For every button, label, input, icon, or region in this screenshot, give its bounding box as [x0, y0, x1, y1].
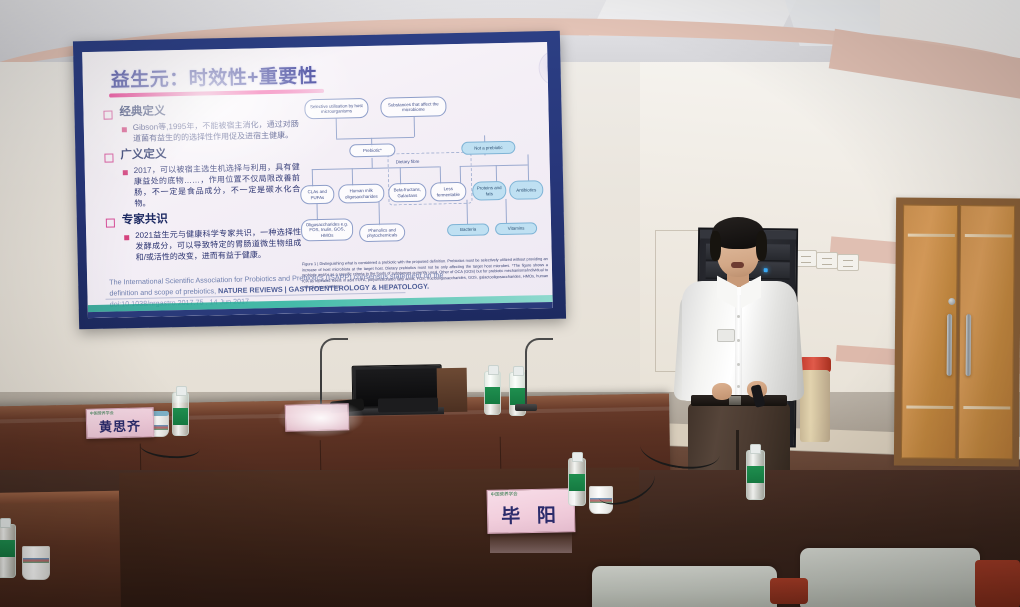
projection-screen-frame: 益生元：时效性+重要性 经典定义 Gibson等,1995年，不能被宿主消化，通… [73, 31, 566, 330]
diagram-node: Not a prebiotic [461, 141, 515, 155]
bottle-label [0, 540, 15, 557]
bullet-heading: 广义定义 [120, 149, 166, 164]
paper-cup[interactable] [22, 546, 50, 580]
diagram-node: Beta-fructans, Galactans [388, 183, 426, 203]
mic-base [515, 404, 537, 411]
mouth [731, 262, 744, 268]
chair-back-behind-table [437, 368, 468, 413]
placard-name: 黄思齐 [99, 415, 141, 435]
bullet-heading: 经典定义 [119, 105, 165, 120]
connector [414, 117, 415, 137]
bullet-heading-row: 经典定义 [103, 102, 298, 120]
connector [372, 158, 373, 168]
small-square-bullet-icon [124, 235, 129, 240]
connector [378, 202, 380, 226]
bullet-body: 2021益生元与健康科学专家共识，一种选择性发酵成分，可以导致特定的胃肠道微生物… [135, 228, 302, 264]
diagram-node: Oligosaccharides e.g. FOS, Inulin, GOS, … [301, 218, 353, 241]
diagram-node: Substances that affect the microbiome [380, 96, 446, 117]
institution-watermark-logo [538, 49, 553, 86]
diagram-node: Antibiotics [509, 180, 543, 200]
door-left[interactable] [901, 205, 958, 459]
slide-title: 益生元：时效性+重要性 [110, 61, 317, 93]
bullet-body-row: Gibson等,1995年，不能被宿主消化，通过对肠道菌有益生的的选择性作用促及… [122, 119, 299, 144]
door-molding [965, 234, 1012, 237]
bottle-cap [513, 366, 524, 376]
belt-buckle [729, 396, 741, 405]
shirt-button [737, 363, 740, 366]
audience-chair[interactable] [800, 548, 980, 607]
placard-org: 中国营养学会 [491, 492, 518, 497]
diagram-node: Prebiotic* [349, 143, 395, 157]
audience-table-left [0, 491, 121, 607]
bottle-cap [0, 518, 11, 528]
diagram-node: Human milk oligosaccharides [338, 184, 384, 204]
chair-armrest [770, 578, 808, 604]
door-handle[interactable] [966, 314, 972, 376]
door-frame [894, 197, 1020, 466]
door-molding [908, 234, 955, 237]
conference-hall-scene: 益生元：时效性+重要性 经典定义 Gibson等,1995年，不能被宿主消化，通… [0, 0, 1020, 607]
bullet-heading: 专家共识 [122, 214, 168, 229]
mic-gooseneck [320, 338, 348, 374]
chair-armrest [975, 560, 1020, 607]
water-bottle[interactable] [484, 371, 501, 415]
bullet-body-row: 2021益生元与健康科学专家共识，一种选择性发酵成分，可以导致特定的胃肠道微生物… [124, 228, 302, 264]
slide-bullet-list: 经典定义 Gibson等,1995年，不能被宿主消化，通过对肠道菌有益生的的选择… [103, 97, 301, 264]
door-molding [906, 406, 953, 409]
mic-stem [525, 370, 527, 406]
prebiotic-flowchart: Selective utilisation by host microorgan… [298, 92, 547, 262]
square-bullet-icon [106, 219, 115, 228]
connector [336, 137, 414, 140]
door-handle[interactable] [947, 314, 953, 376]
table-top-edge [0, 491, 119, 504]
bullet-heading-row: 专家共识 [106, 211, 301, 229]
placard-reflection [490, 531, 572, 553]
bullet-body-row: 2017，可以被宿主选生机选择与利用，具有健康益处的底物……，作用位置不仅局限改… [123, 163, 301, 210]
water-bottle[interactable] [172, 392, 189, 436]
bottle-label [510, 388, 525, 405]
mic-gooseneck [525, 338, 553, 374]
door-lock [948, 298, 955, 305]
diagram-node: Less fermentable [430, 182, 466, 202]
name-placard: 中国营养学会 黄思齐 [86, 407, 155, 439]
power-outlet [837, 254, 859, 271]
bullet-heading-row: 广义定义 [104, 146, 299, 164]
placard-name: 毕 阳 [501, 500, 561, 528]
mic-stem [320, 370, 322, 406]
diagram-node: Selective utilisation by host microorgan… [304, 98, 368, 119]
diagram-node: Proteins and fats [472, 181, 506, 201]
diagram-node: CLAs and PUFAs [300, 185, 334, 205]
desk-pad [378, 397, 438, 412]
bottle-label [569, 474, 585, 491]
bottle-cap [176, 386, 187, 396]
connector [527, 154, 529, 182]
shirt-button [737, 339, 740, 342]
diagram-node: Phenolics and phytochemicals [359, 223, 405, 242]
diagram-node: Vitamins [495, 222, 537, 235]
bottle-cap [750, 444, 761, 454]
water-bottle[interactable] [0, 524, 16, 578]
bullet-body: Gibson等,1995年，不能被宿主消化，通过对肠道菌有益生的的选择性作用促及… [133, 119, 299, 144]
bottle-label [173, 408, 188, 425]
door-right[interactable] [958, 205, 1015, 459]
placard-org: 中国营养学会 [90, 411, 114, 416]
bullet-body: 2017，可以被宿主选生机选择与利用，具有健康益处的底物……，作用位置不仅局限改… [134, 163, 301, 210]
small-square-bullet-icon [122, 127, 127, 132]
water-bottle[interactable] [746, 450, 765, 500]
bottle-cap [572, 452, 583, 462]
shirt-button [737, 315, 740, 318]
square-bullet-icon [104, 154, 113, 163]
hair-side-right [756, 231, 767, 261]
hair-side-left [710, 231, 721, 261]
name-placard: 中国营养学会 毕 阳 [487, 488, 576, 534]
presentation-slide: 益生元：时效性+重要性 经典定义 Gibson等,1995年，不能被宿主消化，通… [82, 42, 553, 318]
small-square-bullet-icon [123, 170, 128, 175]
diagram-node: Dietary fibre [389, 155, 425, 170]
connector [336, 119, 337, 139]
bottle-label [485, 387, 500, 404]
cup-band [23, 558, 49, 563]
hand-left [712, 383, 732, 400]
name-badge [717, 329, 735, 342]
square-bullet-icon [103, 111, 112, 120]
audience-chair[interactable] [592, 566, 777, 607]
projection-screen: 益生元：时效性+重要性 经典定义 Gibson等,1995年，不能被宿主消化，通… [82, 42, 553, 318]
shirt-placket [735, 295, 742, 395]
door-molding [963, 406, 1010, 409]
name-placard [285, 403, 350, 432]
bottle-label [747, 466, 764, 483]
water-bottle[interactable] [568, 458, 586, 506]
shirt-button [737, 385, 740, 388]
bottle-cap [488, 365, 499, 375]
diagram-node: Bacteria [447, 223, 489, 236]
connector [505, 199, 507, 225]
